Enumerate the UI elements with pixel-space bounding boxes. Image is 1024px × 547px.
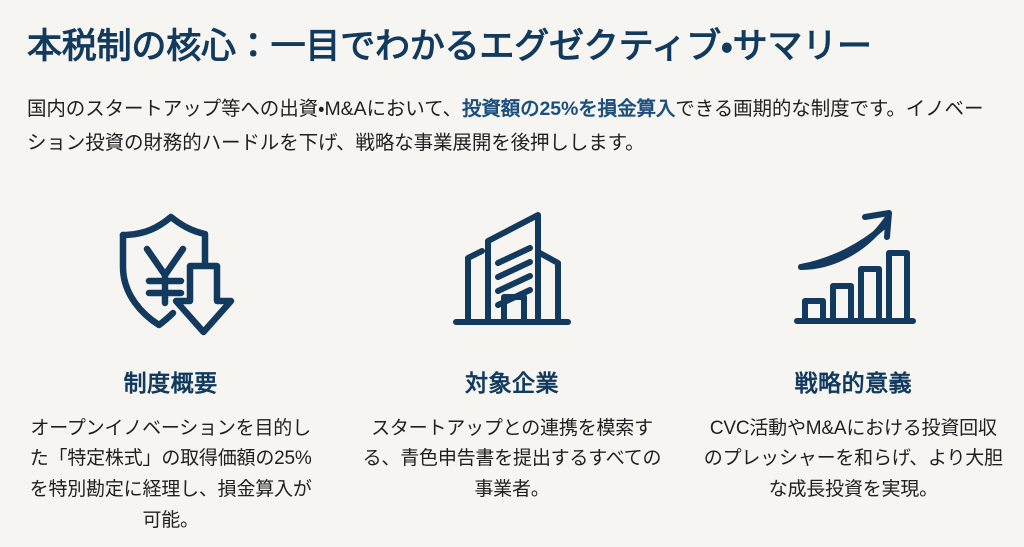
lead-text-part-1: 国内のスタートアップ等への出資・M&Aにおいて、	[27, 98, 462, 120]
shield-yen-down-arrow-icon	[101, 196, 241, 346]
column-heading-overview: 制度概要	[124, 370, 218, 398]
column-heading-strategic-value: 戦略的意義	[795, 370, 913, 398]
feature-column-overview: 制度概要 オープンイノベーションを目的した「特定株式」の取得価額の25%を特別勘…	[0, 196, 341, 537]
column-body-target-companies: スタートアップとの連携を模索する、青色申告書を提出するすべての事業者。	[362, 414, 662, 506]
column-heading-target-companies: 対象企業	[465, 370, 559, 398]
feature-columns: 制度概要 オープンイノベーションを目的した「特定株式」の取得価額の25%を特別勘…	[0, 196, 1024, 537]
feature-column-strategic-value: 戦略的意義 CVC活動やM&Aにおける投資回収のプレッシャーを和らげ、より大胆な…	[683, 196, 1024, 506]
feature-column-target-companies: 対象企業 スタートアップとの連携を模索する、青色申告書を提出するすべての事業者。	[341, 196, 682, 506]
slide-root: 本税制の核心：一目でわかるエグゼクティブ・サマリー 国内のスタートアップ等への出…	[0, 0, 1024, 547]
office-buildings-icon	[442, 196, 582, 346]
page-title: 本税制の核心：一目でわかるエグゼクティブ・サマリー	[27, 26, 997, 69]
lead-highlight-phrase: 投資額の25%を損金算入	[462, 98, 675, 120]
growth-bar-chart-arrow-icon	[783, 196, 923, 346]
column-body-strategic-value: CVC活動やM&Aにおける投資回収のプレッシャーを和らげ、より大胆な成長投資を実…	[703, 414, 1003, 506]
lead-paragraph: 国内のスタートアップ等への出資・M&Aにおいて、投資額の25%を損金算入できる画…	[27, 93, 995, 160]
column-body-overview: オープンイノベーションを目的した「特定株式」の取得価額の25%を特別勘定に経理し…	[25, 414, 317, 537]
